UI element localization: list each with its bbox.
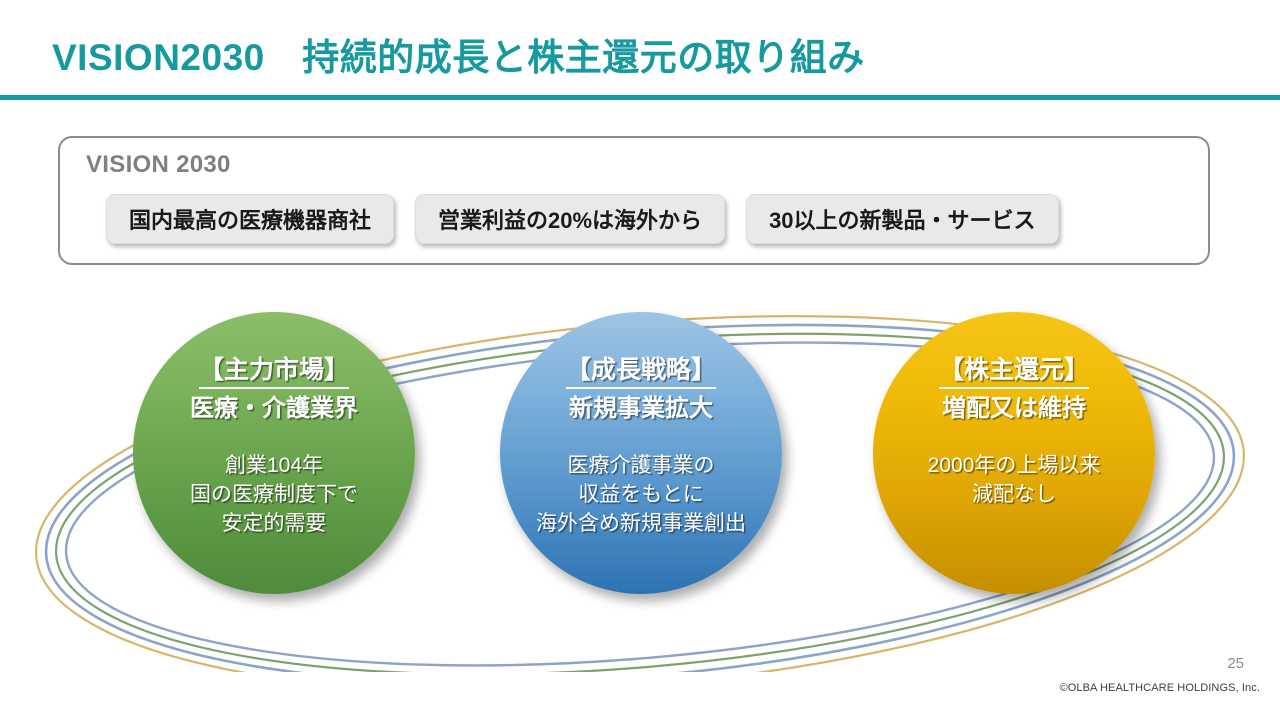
title-divider [0, 95, 1280, 100]
bubble-shareholder-return[interactable]: 【株主還元】 増配又は維持 2000年の上場以来 減配なし [873, 312, 1155, 594]
bubble-growth-strategy-body-line-2: 収益をもとに [536, 481, 746, 510]
bubble-main-market-subheading: 医療・介護業界 [190, 393, 358, 424]
bubble-main-market-body-line-2: 国の医療制度下で [190, 481, 358, 510]
bubble-growth-strategy-body-line-1: 医療介護事業の [536, 452, 746, 481]
vision-2030-panel: VISION 2030 国内最高の医療機器商社 営業利益の20%は海外から 30… [58, 136, 1210, 265]
bubble-main-market-body: 創業104年 国の医療制度下で 安定的需要 [190, 452, 358, 539]
bubble-shareholder-return-body: 2000年の上場以来 減配なし [928, 452, 1101, 510]
bubble-shareholder-return-body-line-2: 減配なし [928, 481, 1101, 510]
page-title: VISION2030 持続的成長と株主還元の取り組み [52, 27, 865, 81]
vision-2030-label: VISION 2030 [86, 151, 231, 179]
vision-chip-overseas-profit[interactable]: 営業利益の20%は海外から [415, 194, 725, 244]
bubble-shareholder-return-heading: 【株主還元】 [939, 356, 1089, 389]
bubble-growth-strategy-subheading: 新規事業拡大 [569, 393, 713, 424]
bubble-growth-strategy-heading: 【成長戦略】 [566, 356, 716, 389]
bubble-main-market-body-line-3: 安定的需要 [190, 510, 358, 539]
page-number: 25 [1227, 655, 1244, 672]
vision-chip-row: 国内最高の医療機器商社 営業利益の20%は海外から 30以上の新製品・サービス [106, 194, 1059, 244]
bubble-shareholder-return-subheading: 増配又は維持 [942, 393, 1086, 424]
vision-chip-new-products[interactable]: 30以上の新製品・サービス [746, 194, 1058, 244]
bubble-growth-strategy-body-line-3: 海外含め新規事業創出 [536, 510, 746, 539]
vision-chip-domestic-top[interactable]: 国内最高の医療機器商社 [106, 194, 394, 244]
bubble-main-market-body-line-1: 創業104年 [190, 452, 358, 481]
bubble-growth-strategy-body: 医療介護事業の 収益をもとに 海外含め新規事業創出 [536, 452, 746, 539]
bubble-shareholder-return-body-line-1: 2000年の上場以来 [928, 452, 1101, 481]
copyright-notice: ©OLBA HEALTHCARE HOLDINGS, Inc. [1060, 682, 1261, 694]
bubble-main-market[interactable]: 【主力市場】 医療・介護業界 創業104年 国の医療制度下で 安定的需要 [133, 312, 415, 594]
bubble-growth-strategy[interactable]: 【成長戦略】 新規事業拡大 医療介護事業の 収益をもとに 海外含め新規事業創出 [500, 312, 782, 594]
vision-diagram: 【主力市場】 医療・介護業界 創業104年 国の医療制度下で 安定的需要 【成長… [0, 272, 1280, 672]
bubble-main-market-heading: 【主力市場】 [199, 356, 349, 389]
